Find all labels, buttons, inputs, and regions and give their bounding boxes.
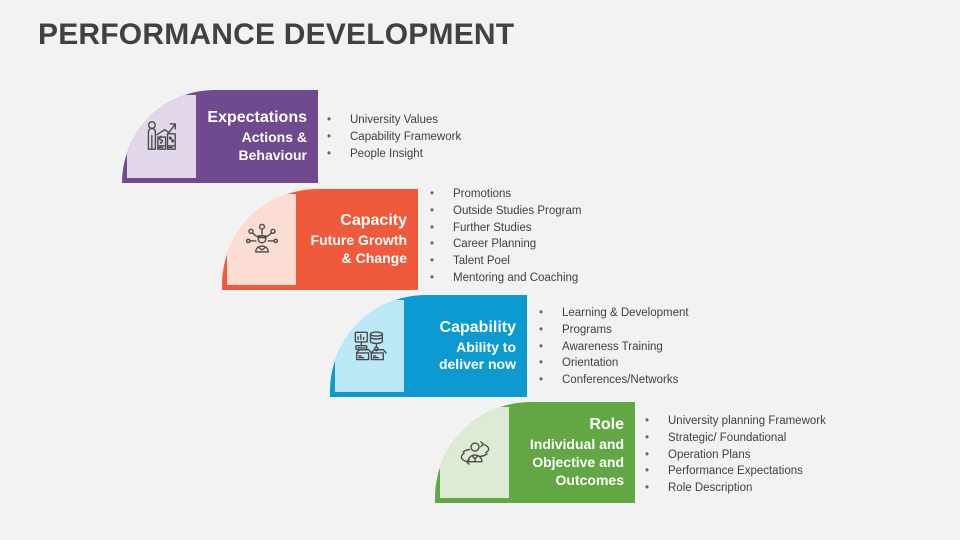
list-item-label: Strategic/ Foundational bbox=[668, 432, 786, 444]
list-item: •Further Studies bbox=[428, 220, 581, 237]
bullet-marker: • bbox=[430, 220, 434, 237]
list-item-label: Talent Poel bbox=[453, 255, 510, 267]
list-item: •Career Planning bbox=[428, 236, 581, 253]
bullet-marker: • bbox=[430, 236, 434, 253]
band-text-capacity: Capacity Future Growth & Change bbox=[296, 189, 418, 290]
list-item: •Performance Expectations bbox=[643, 463, 826, 480]
bullet-marker: • bbox=[327, 129, 331, 146]
band-capability[interactable]: Capability Ability to deliver now bbox=[330, 295, 527, 397]
bullet-marker: • bbox=[539, 339, 543, 356]
list-item: •People Insight bbox=[325, 146, 461, 163]
list-item-label: Promotions bbox=[453, 188, 511, 200]
list-item: •Strategic/ Foundational bbox=[643, 430, 826, 447]
band-icon-tile-role bbox=[440, 407, 509, 498]
band-subtitle-line3-role: Outcomes bbox=[556, 472, 624, 489]
bullet-list-capability: •Learning & Development •Programs •Aware… bbox=[537, 305, 689, 389]
list-item-label: Role Description bbox=[668, 482, 752, 494]
workstation-tools-icon bbox=[348, 324, 392, 368]
list-item: •Learning & Development bbox=[537, 305, 689, 322]
list-item-label: Conferences/Networks bbox=[562, 374, 678, 386]
list-item-label: Mentoring and Coaching bbox=[453, 272, 578, 284]
list-item: •Talent Poel bbox=[428, 253, 581, 270]
list-item-label: University Values bbox=[350, 114, 438, 126]
band-subtitle-line2-capability: deliver now bbox=[439, 356, 516, 373]
list-item-label: Orientation bbox=[562, 357, 618, 369]
list-item: •Programs bbox=[537, 322, 689, 339]
band-subtitle-line1-capacity: Future Growth bbox=[311, 232, 407, 249]
band-capacity[interactable]: Capacity Future Growth & Change bbox=[222, 189, 418, 290]
band-icon-tile-capacity bbox=[227, 194, 296, 285]
list-item-label: Learning & Development bbox=[562, 307, 689, 319]
bullet-marker: • bbox=[539, 355, 543, 372]
list-item-label: Further Studies bbox=[453, 222, 532, 234]
bullet-list-expectations: •University Values •Capability Framework… bbox=[325, 112, 461, 162]
band-subtitle-line1-capability: Ability to bbox=[456, 339, 516, 356]
bullet-marker: • bbox=[327, 146, 331, 163]
bullet-marker: • bbox=[430, 203, 434, 220]
bullet-marker: • bbox=[645, 480, 649, 497]
band-title-capability: Capability bbox=[440, 319, 516, 338]
band-text-capability: Capability Ability to deliver now bbox=[404, 295, 527, 397]
person-network-nodes-icon bbox=[240, 218, 284, 262]
band-subtitle-line2-expectations: Behaviour bbox=[239, 147, 307, 164]
list-item: •Conferences/Networks bbox=[537, 372, 689, 389]
slide-canvas: PERFORMANCE DEVELOPMENT bbox=[0, 0, 960, 540]
list-item: •Capability Framework bbox=[325, 129, 461, 146]
band-subtitle-line2-capacity: & Change bbox=[342, 250, 407, 267]
bullet-marker: • bbox=[430, 253, 434, 270]
list-item: •University planning Framework bbox=[643, 413, 826, 430]
list-item: •Awareness Training bbox=[537, 339, 689, 356]
list-item: •Operation Plans bbox=[643, 447, 826, 464]
list-item-label: Operation Plans bbox=[668, 449, 750, 461]
bullet-marker: • bbox=[539, 305, 543, 322]
bullet-marker: • bbox=[327, 112, 331, 129]
bullet-list-role: •University planning Framework •Strategi… bbox=[643, 413, 826, 497]
list-item-label: University planning Framework bbox=[668, 415, 826, 427]
list-item: •Orientation bbox=[537, 355, 689, 372]
person-growth-chart-icon bbox=[140, 115, 184, 159]
bullet-marker: • bbox=[539, 322, 543, 339]
list-item-label: People Insight bbox=[350, 148, 423, 160]
band-title-expectations: Expectations bbox=[207, 109, 307, 128]
list-item-label: Awareness Training bbox=[562, 341, 663, 353]
bullet-marker: • bbox=[645, 413, 649, 430]
bullet-marker: • bbox=[430, 270, 434, 287]
list-item: •Outside Studies Program bbox=[428, 203, 581, 220]
list-item-label: Capability Framework bbox=[350, 131, 461, 143]
band-icon-tile-expectations bbox=[127, 95, 196, 178]
band-subtitle-line2-role: Objective and bbox=[532, 454, 624, 471]
band-title-role: Role bbox=[589, 416, 624, 435]
band-text-expectations: Expectations Actions & Behaviour bbox=[196, 90, 318, 183]
person-cycle-arrows-icon bbox=[453, 431, 497, 475]
list-item: •University Values bbox=[325, 112, 461, 129]
band-role[interactable]: Role Individual and Objective and Outcom… bbox=[435, 402, 635, 503]
list-item-label: Career Planning bbox=[453, 238, 536, 250]
bullet-list-capacity: •Promotions •Outside Studies Program •Fu… bbox=[428, 186, 581, 287]
bullet-marker: • bbox=[645, 463, 649, 480]
list-item-label: Outside Studies Program bbox=[453, 205, 581, 217]
list-item: •Role Description bbox=[643, 480, 826, 497]
list-item: •Mentoring and Coaching bbox=[428, 270, 581, 287]
bullet-marker: • bbox=[645, 447, 649, 464]
band-title-capacity: Capacity bbox=[340, 212, 407, 231]
page-title: PERFORMANCE DEVELOPMENT bbox=[38, 18, 514, 52]
list-item-label: Performance Expectations bbox=[668, 465, 803, 477]
band-text-role: Role Individual and Objective and Outcom… bbox=[509, 402, 635, 503]
band-icon-tile-capability bbox=[335, 300, 404, 392]
list-item-label: Programs bbox=[562, 324, 612, 336]
band-subtitle-line1-expectations: Actions & bbox=[242, 129, 307, 146]
list-item: •Promotions bbox=[428, 186, 581, 203]
band-expectations[interactable]: Expectations Actions & Behaviour bbox=[122, 90, 318, 183]
band-subtitle-line1-role: Individual and bbox=[530, 436, 624, 453]
bullet-marker: • bbox=[645, 430, 649, 447]
bullet-marker: • bbox=[430, 186, 434, 203]
bullet-marker: • bbox=[539, 372, 543, 389]
